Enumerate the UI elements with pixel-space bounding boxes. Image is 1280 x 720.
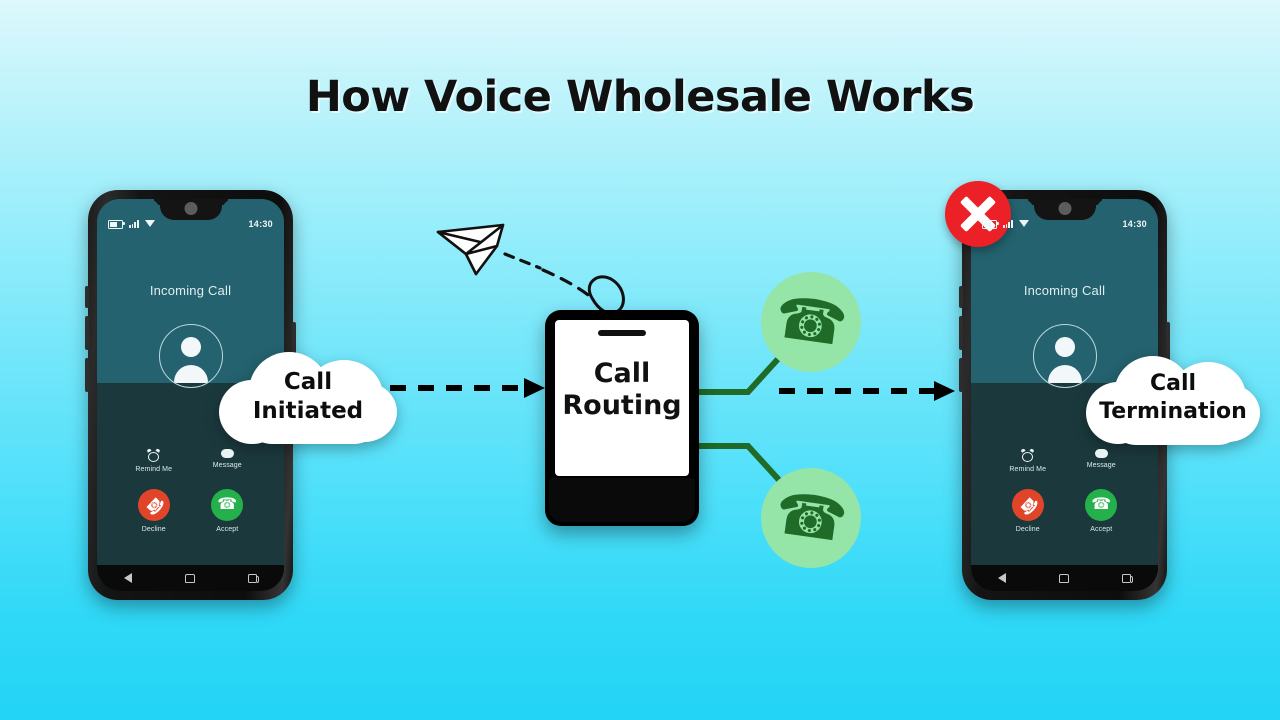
alarm-icon <box>1021 449 1034 462</box>
home-icon[interactable] <box>1059 574 1069 583</box>
front-camera-icon <box>1058 202 1071 215</box>
call-routing-device[interactable]: Call Routing <box>545 310 699 526</box>
avatar-head <box>1055 337 1075 357</box>
speaker-grill <box>598 330 646 336</box>
router-label: Call Routing <box>545 358 699 422</box>
incoming-call-label: Incoming Call <box>971 283 1158 298</box>
bubble-line2: Termination <box>1099 399 1247 424</box>
remind-me-label: Remind Me <box>123 466 185 473</box>
wifi-icon <box>145 220 155 228</box>
status-bar-time: 14:30 <box>1122 219 1147 229</box>
recents-icon[interactable] <box>248 574 257 583</box>
accept-call-icon[interactable]: ☎ <box>1085 489 1117 521</box>
volume-up-button[interactable] <box>959 316 963 350</box>
message-icon <box>1095 449 1108 458</box>
wifi-icon <box>1019 220 1029 228</box>
router-label-line2: Routing <box>562 390 681 421</box>
accept-action[interactable]: ☎ Accept <box>1070 489 1132 533</box>
incoming-call-label: Incoming Call <box>97 283 284 298</box>
accept-action[interactable]: ☎ Accept <box>196 489 258 533</box>
call-termination-text: Call Termination <box>1086 370 1260 425</box>
accept-label: Accept <box>1070 526 1132 533</box>
phone-handset-icon: ☎ <box>771 288 851 355</box>
caller-avatar <box>1033 324 1097 388</box>
dashed-arrow-right <box>779 381 955 401</box>
message-icon <box>221 449 234 458</box>
android-nav-bar <box>971 565 1158 591</box>
back-icon[interactable] <box>998 573 1006 583</box>
recents-icon[interactable] <box>1122 574 1131 583</box>
message-label: Message <box>1070 462 1132 469</box>
volume-down-button[interactable] <box>959 358 963 392</box>
call-actions: Remind Me Message ☎ Decline ☎ Accept <box>971 449 1158 533</box>
paper-plane-icon <box>438 225 503 274</box>
remind-me-action[interactable]: Remind Me <box>123 449 185 473</box>
bubble-line1: Call <box>1150 371 1196 396</box>
side-button[interactable] <box>959 286 963 308</box>
back-icon[interactable] <box>124 573 132 583</box>
message-action[interactable]: Message <box>196 449 258 473</box>
volume-down-button[interactable] <box>85 358 89 392</box>
router-label-line1: Call <box>594 358 651 389</box>
decline-action[interactable]: ☎ Decline <box>123 489 185 533</box>
caller-avatar <box>159 324 223 388</box>
remind-me-action[interactable]: Remind Me <box>997 449 1059 473</box>
paper-plane-trail <box>505 254 623 313</box>
error-x-icon[interactable] <box>945 181 1011 247</box>
avatar-body <box>1048 365 1082 383</box>
infographic-canvas: How Voice Wholesale Works 14:30 Incoming… <box>0 0 1280 720</box>
volume-up-button[interactable] <box>85 316 89 350</box>
accept-label: Accept <box>196 526 258 533</box>
call-initiated-text: Call Initiated <box>219 368 397 426</box>
decline-call-icon[interactable]: ☎ <box>1012 489 1044 521</box>
phone-handset-icon: ☎ <box>771 484 851 551</box>
avatar-head <box>181 337 201 357</box>
android-nav-bar <box>97 565 284 591</box>
call-termination-bubble[interactable]: Call Termination <box>1086 356 1260 446</box>
home-icon[interactable] <box>185 574 195 583</box>
battery-icon <box>108 220 123 229</box>
signal-icon <box>1003 220 1013 228</box>
side-button[interactable] <box>85 286 89 308</box>
call-initiated-bubble[interactable]: Call Initiated <box>219 352 397 444</box>
bubble-line1: Call <box>284 369 332 395</box>
call-actions: Remind Me Message ☎ Decline ☎ Accept <box>97 449 284 533</box>
message-label: Message <box>196 462 258 469</box>
alarm-icon <box>147 449 160 462</box>
front-camera-icon <box>184 202 197 215</box>
signal-icon <box>129 220 139 228</box>
accept-call-icon[interactable]: ☎ <box>211 489 243 521</box>
decline-label: Decline <box>123 526 185 533</box>
remind-me-label: Remind Me <box>997 466 1059 473</box>
avatar-body <box>174 365 208 383</box>
call-node-upper[interactable]: ☎ <box>761 272 861 372</box>
decline-action[interactable]: ☎ Decline <box>997 489 1059 533</box>
message-action[interactable]: Message <box>1070 449 1132 473</box>
bubble-line2: Initiated <box>253 398 363 424</box>
call-node-lower[interactable]: ☎ <box>761 468 861 568</box>
page-title: How Voice Wholesale Works <box>0 72 1280 122</box>
battery-icon <box>982 220 997 229</box>
router-chin <box>549 478 695 522</box>
decline-call-icon[interactable]: ☎ <box>138 489 170 521</box>
decline-label: Decline <box>997 526 1059 533</box>
status-bar-time: 14:30 <box>248 219 273 229</box>
